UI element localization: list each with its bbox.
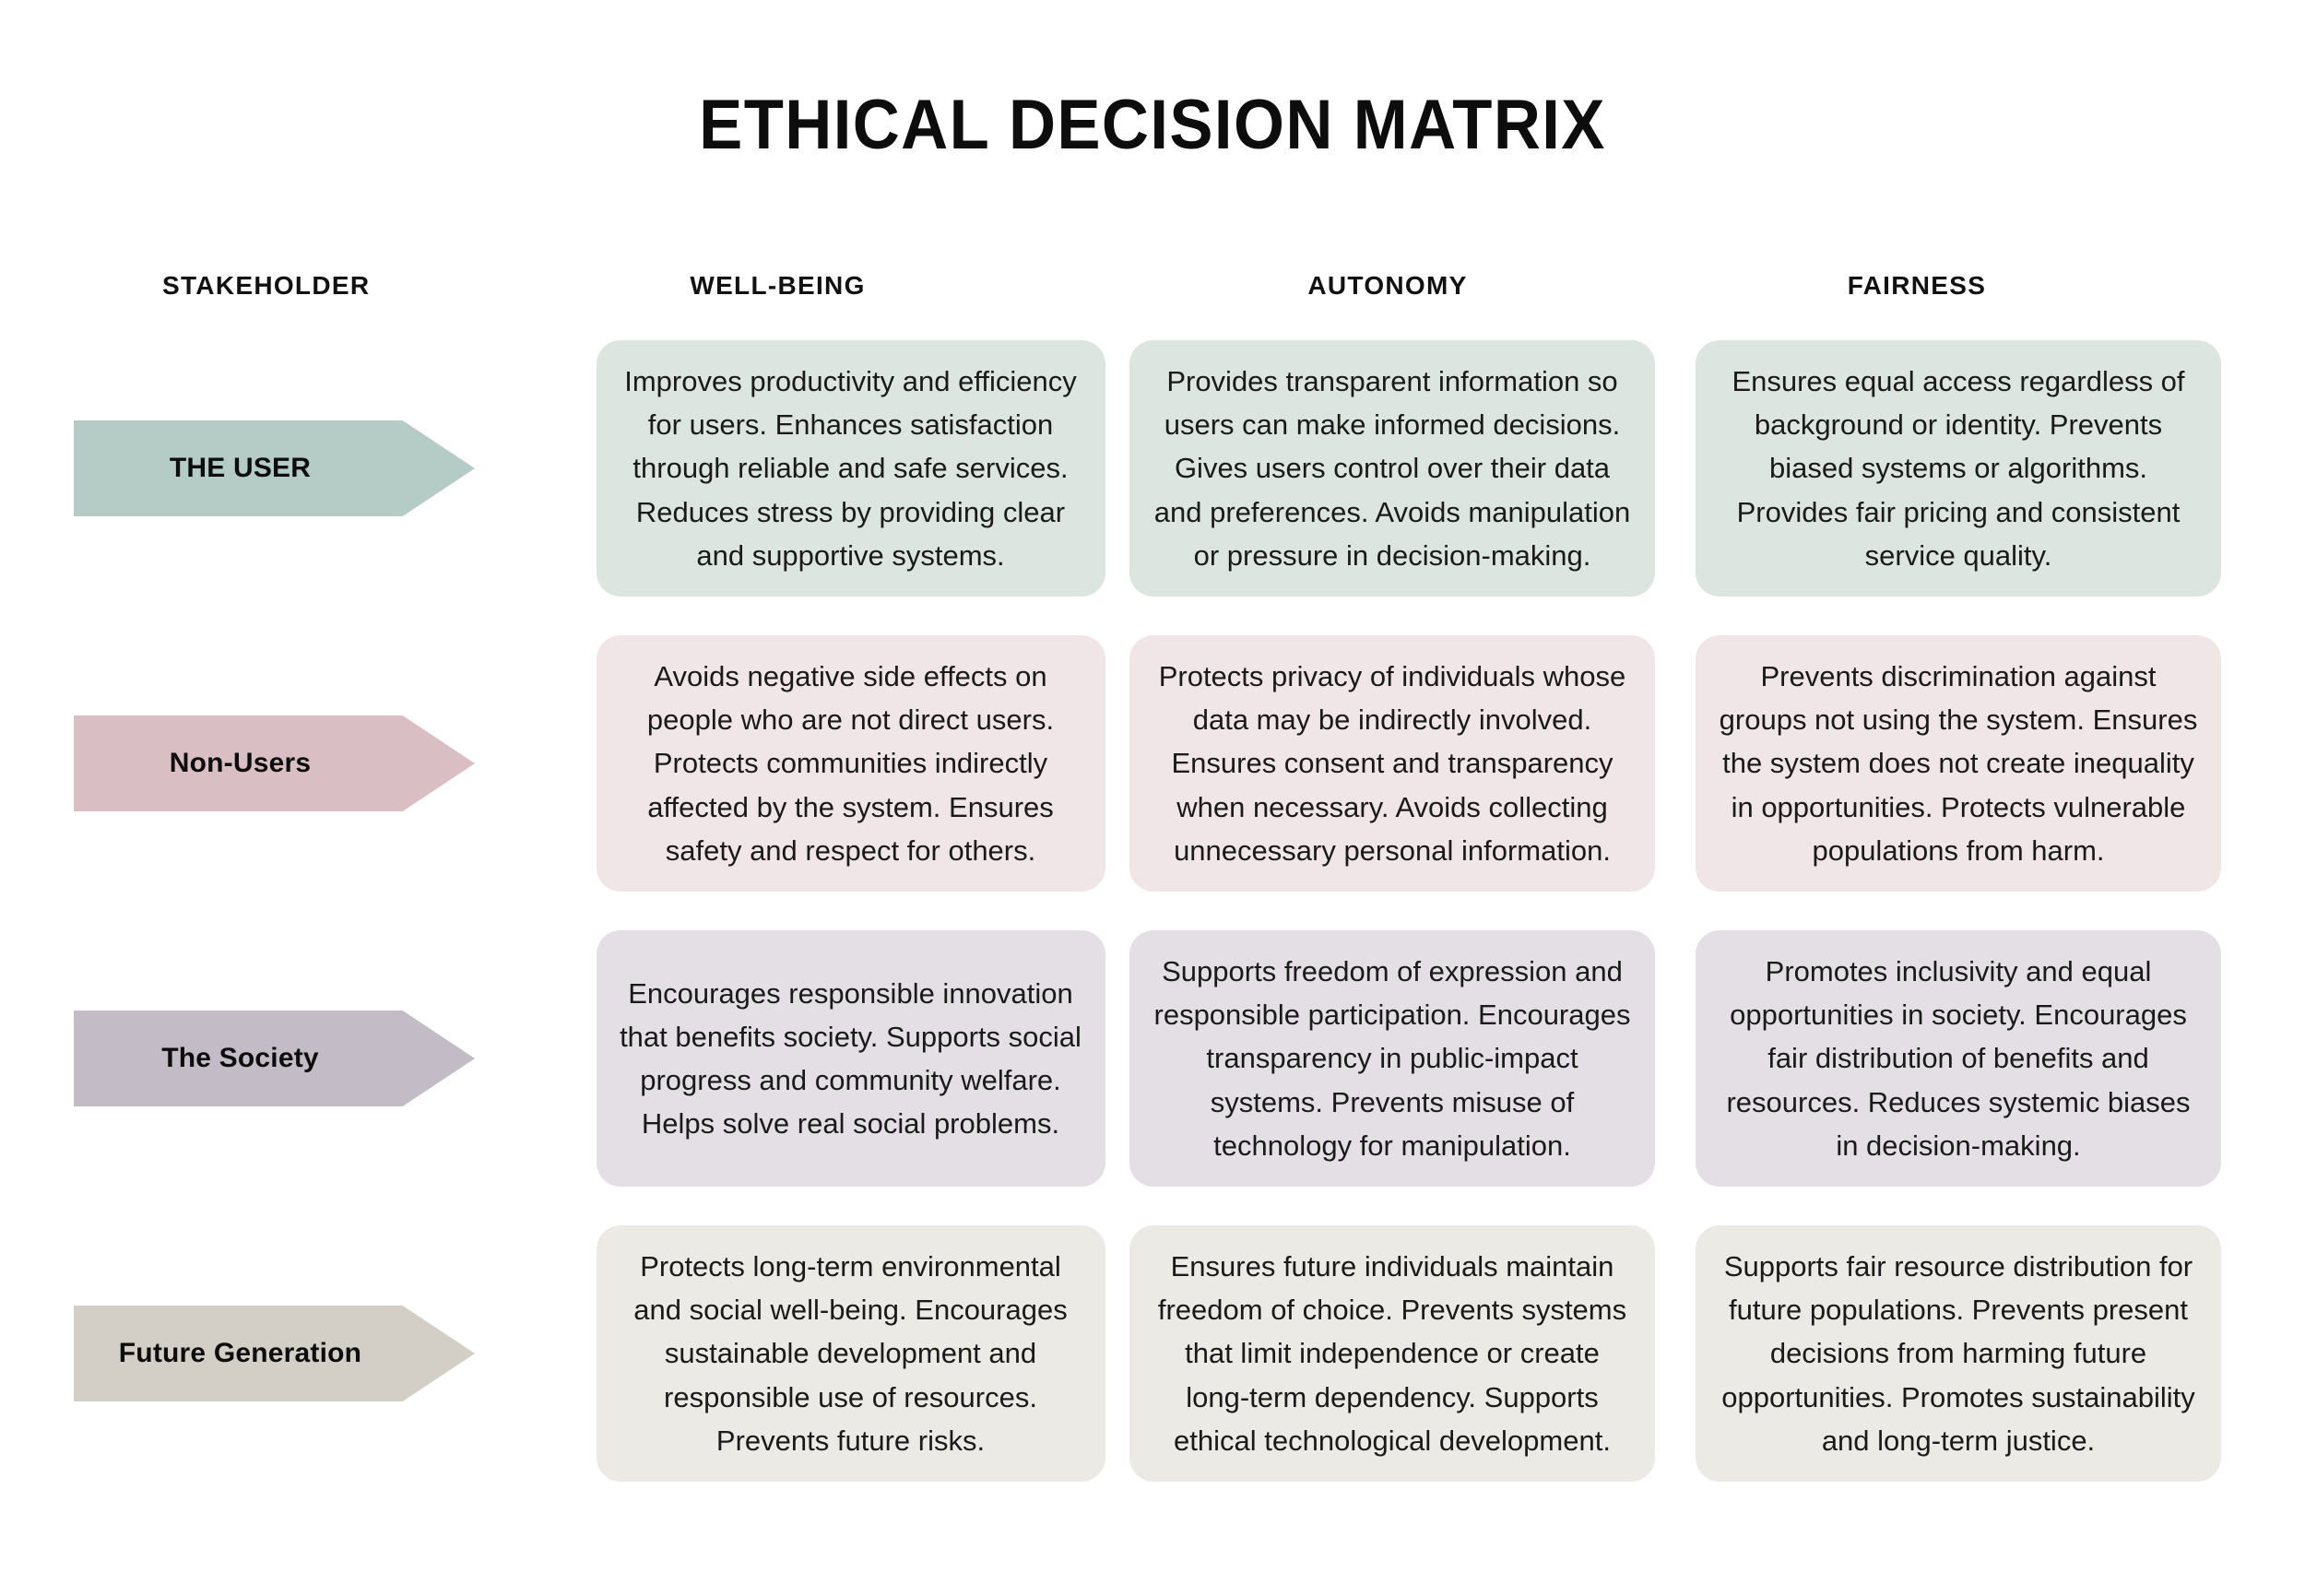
value-card-text: Protects long-term environmental and soc… [617,1245,1085,1462]
matrix-cell-non-users-well-being: Avoids negative side effects on people w… [586,616,1109,911]
stakeholder-arrow-the-user[interactable]: THE USER [74,420,475,516]
matrix-cell-non-users-fairness: Prevents discrimination against groups n… [1675,616,2241,911]
column-header-stakeholder: STAKEHOLDER [0,267,586,301]
value-card[interactable]: Avoids negative side effects on people w… [597,635,1105,892]
value-card[interactable]: Supports fair resource distribution for … [1696,1225,2221,1482]
matrix-cell-society-well-being: Encourages responsible innovation that b… [586,911,1109,1206]
matrix-cell-user-fairness: Ensures equal access regardless of backg… [1675,321,2241,616]
value-card-text: Supports fair resource distribution for … [1716,1245,2201,1462]
value-card[interactable]: Ensures future individuals maintain free… [1129,1225,1655,1482]
stakeholder-label: Future Generation [119,1338,361,1369]
value-card[interactable]: Provides transparent information so user… [1129,340,1655,597]
stakeholder-cell-the-society: The Society [0,911,586,1206]
matrix-cell-future-autonomy: Ensures future individuals maintain free… [1109,1206,1675,1501]
stakeholder-arrow-future-generation[interactable]: Future Generation [74,1306,475,1401]
stakeholder-arrow-non-users[interactable]: Non-Users [74,715,475,811]
value-card-text: Prevents discrimination against groups n… [1716,655,2201,872]
matrix-cell-future-well-being: Protects long-term environmental and soc… [586,1206,1109,1501]
stakeholder-label: The Society [161,1043,319,1074]
page-title: ETHICAL DECISION MATRIX [81,85,2225,165]
stakeholder-cell-non-users: Non-Users [0,616,586,911]
value-card-text: Improves productivity and efficiency for… [617,360,1085,577]
value-card[interactable]: Encourages responsible innovation that b… [597,930,1105,1187]
value-card-text: Avoids negative side effects on people w… [617,655,1085,872]
stakeholder-cell-the-user: THE USER [0,321,586,616]
stakeholder-arrow-the-society[interactable]: The Society [74,1011,475,1106]
value-card-text: Provides transparent information so user… [1150,360,1635,577]
matrix-cell-society-autonomy: Supports freedom of expression and respo… [1109,911,1675,1206]
matrix-cell-non-users-autonomy: Protects privacy of individuals whose da… [1109,616,1675,911]
matrix-cell-future-fairness: Supports fair resource distribution for … [1675,1206,2241,1501]
ethical-decision-matrix-page: ETHICAL DECISION MATRIX STAKEHOLDER WELL… [0,0,2305,1596]
value-card-text: Encourages responsible innovation that b… [617,972,1085,1145]
column-header-fairness: FAIRNESS [1675,267,2241,301]
value-card-text: Promotes inclusivity and equal opportuni… [1716,950,2201,1167]
value-card[interactable]: Protects privacy of individuals whose da… [1129,635,1655,892]
column-header-autonomy: AUTONOMY [1109,267,1675,301]
stakeholder-cell-future-generation: Future Generation [0,1206,586,1501]
value-card-text: Supports freedom of expression and respo… [1150,950,1635,1167]
matrix-cell-user-autonomy: Provides transparent information so user… [1109,321,1675,616]
value-card[interactable]: Promotes inclusivity and equal opportuni… [1696,930,2221,1187]
value-card-text: Protects privacy of individuals whose da… [1150,655,1635,872]
value-card[interactable]: Improves productivity and efficiency for… [597,340,1105,597]
value-card-text: Ensures future individuals maintain free… [1150,1245,1635,1462]
value-card[interactable]: Protects long-term environmental and soc… [597,1225,1105,1482]
matrix-cell-society-fairness: Promotes inclusivity and equal opportuni… [1675,911,2241,1206]
value-card-text: Ensures equal access regardless of backg… [1716,360,2201,577]
stakeholder-label: Non-Users [170,748,312,779]
value-card[interactable]: Prevents discrimination against groups n… [1696,635,2221,892]
column-header-well-being: WELL-BEING [586,267,1109,301]
value-card[interactable]: Supports freedom of expression and respo… [1129,930,1655,1187]
value-card[interactable]: Ensures equal access regardless of backg… [1696,340,2221,597]
stakeholder-label: THE USER [170,453,311,484]
matrix-cell-user-well-being: Improves productivity and efficiency for… [586,321,1109,616]
matrix-grid: STAKEHOLDER WELL-BEING AUTONOMY FAIRNESS… [0,267,2305,1540]
